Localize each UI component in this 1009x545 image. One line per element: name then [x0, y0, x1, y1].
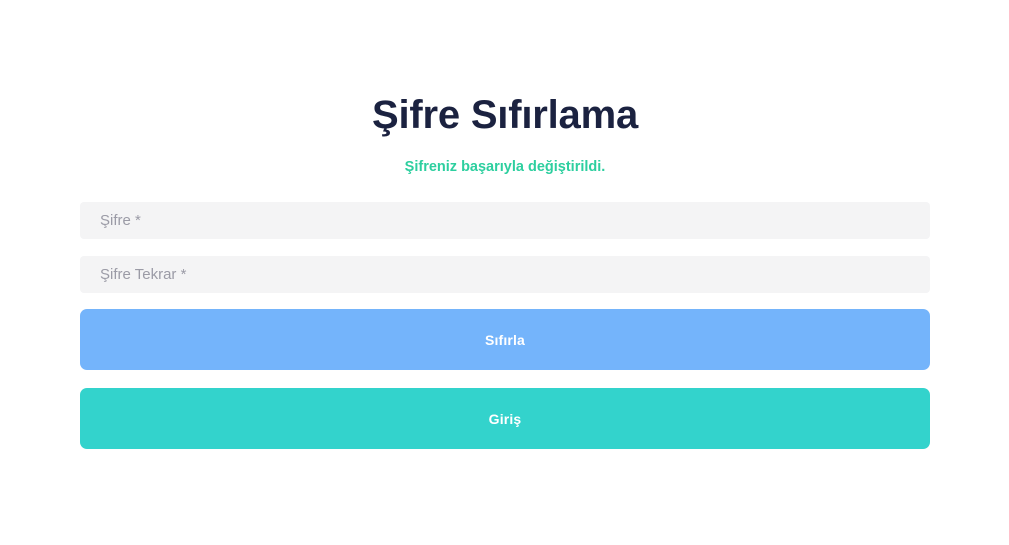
password-confirm-input[interactable]	[80, 256, 930, 293]
password-reset-form: Şifre Sıfırlama Şifreniz başarıyla değiş…	[80, 0, 930, 449]
password-input[interactable]	[80, 202, 930, 239]
reset-button[interactable]: Sıfırla	[80, 309, 930, 370]
login-button[interactable]: Giriş	[80, 388, 930, 449]
page-title: Şifre Sıfırlama	[80, 0, 930, 142]
status-message: Şifreniz başarıyla değiştirildi.	[80, 142, 930, 177]
form-fields	[80, 177, 930, 293]
password-reset-page: Şifre Sıfırlama Şifreniz başarıyla değiş…	[0, 0, 1009, 545]
